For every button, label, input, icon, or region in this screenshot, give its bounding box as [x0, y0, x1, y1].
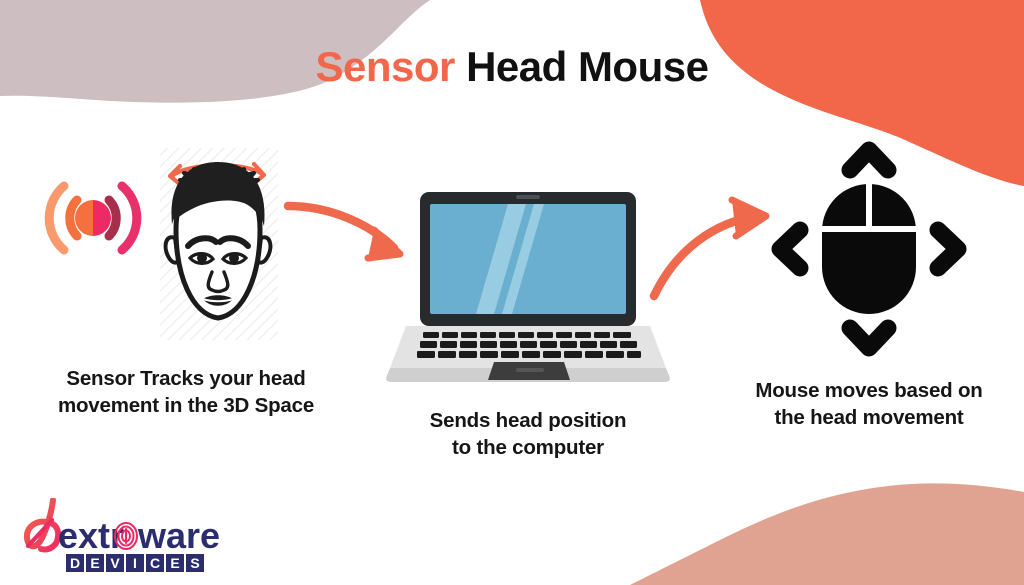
- caption-sensor-line2: movement in the 3D Space: [22, 392, 350, 419]
- devices-letter-block: S: [186, 554, 204, 572]
- logo-wordmark-tail: ware: [137, 515, 220, 556]
- devices-letter: E: [90, 555, 99, 571]
- caption-mouse-line1: Mouse moves based on: [722, 377, 1016, 404]
- infographic-canvas: Sensor Head Mouse: [0, 0, 1024, 585]
- devices-letter: D: [70, 555, 80, 571]
- caption-laptop-line1: Sends head position: [378, 407, 678, 434]
- laptop-icon: [378, 186, 678, 386]
- logo-devices-blocks: D E V I C E S: [66, 554, 204, 572]
- mouse-directional-group: [714, 134, 1024, 364]
- page-title-accent: Sensor: [316, 43, 455, 90]
- arrow-down-icon: [850, 328, 888, 348]
- caption-laptop: Sends head position to the computer: [378, 407, 678, 461]
- arrow-up-icon: [850, 150, 888, 170]
- devices-letter: I: [133, 555, 137, 571]
- fingerprint-icon: [115, 523, 137, 549]
- devices-letter-block: I: [126, 554, 144, 572]
- devices-letter-block: E: [166, 554, 184, 572]
- page-title-wrap: Sensor Head Mouse: [0, 44, 1024, 90]
- step-sensor: Sensor Tracks your head movement in the …: [0, 140, 372, 419]
- laptop-camera: [516, 195, 540, 199]
- devices-letter: S: [190, 555, 199, 571]
- devices-letter: E: [170, 555, 179, 571]
- dextroware-d-icon: [27, 500, 58, 549]
- mouse-icon: [822, 184, 916, 314]
- caption-sensor: Sensor Tracks your head movement in the …: [0, 365, 372, 419]
- wave-bottom-right: [630, 483, 1024, 585]
- page-title: Sensor Head Mouse: [0, 44, 1024, 90]
- sensor-waves-icon: [28, 168, 158, 268]
- arrow-right-icon: [938, 230, 958, 268]
- arrow-left-icon: [780, 230, 800, 268]
- head-figure-icon: [150, 142, 286, 348]
- devices-letter-block: E: [86, 554, 104, 572]
- caption-mouse-line2: the head movement: [722, 404, 1016, 431]
- devices-letter: C: [150, 555, 160, 571]
- laptop-keyboard: [417, 332, 641, 358]
- devices-letter-block: V: [106, 554, 124, 572]
- devices-letter-block: C: [146, 554, 164, 572]
- devices-letter: V: [110, 555, 120, 571]
- step-mouse: Mouse moves based on the head movement: [714, 134, 1024, 431]
- caption-mouse: Mouse moves based on the head movement: [714, 377, 1024, 431]
- step-laptop: Sends head position to the computer: [378, 186, 678, 461]
- caption-laptop-line2: to the computer: [378, 434, 678, 461]
- page-title-rest: Head Mouse: [466, 43, 708, 90]
- dextroware-devices-logo[interactable]: extr ware D E V I: [22, 498, 237, 574]
- devices-letter-block: D: [66, 554, 84, 572]
- caption-sensor-line1: Sensor Tracks your head: [22, 365, 350, 392]
